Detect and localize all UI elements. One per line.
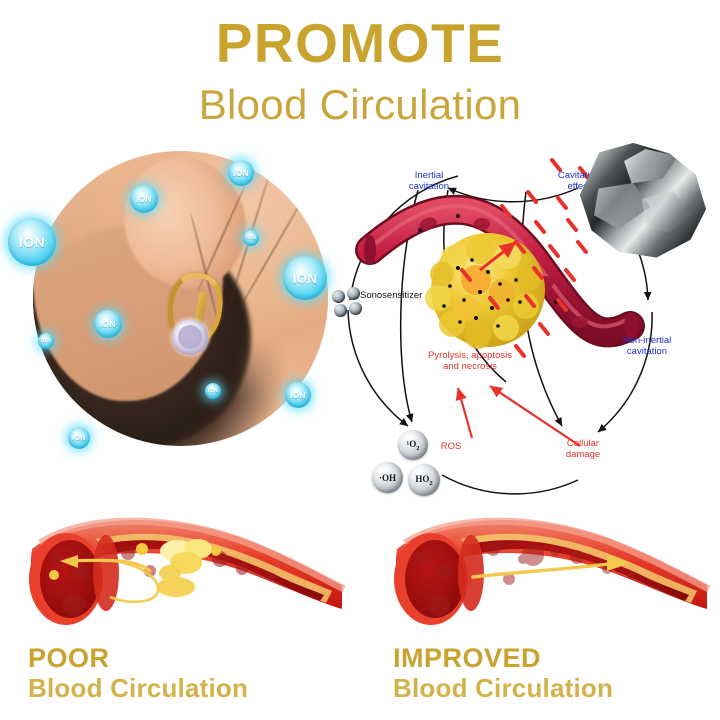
ion-bubble: ION xyxy=(205,383,221,399)
ear-photo-circle xyxy=(33,151,328,446)
caption-poor: POOR Blood Circulation xyxy=(28,643,248,703)
ion-bubble: ION xyxy=(285,382,311,408)
ion-bubble: ION xyxy=(8,218,56,266)
molecule-singlet-oxygen: ¹O2 xyxy=(398,430,428,460)
label-non-inertial-cavitation: Non-inertial cavitation xyxy=(608,335,686,357)
caption-poor-subtitle: Blood Circulation xyxy=(28,673,248,703)
plaque-deposits xyxy=(157,539,212,597)
page-subtitle: Blood Circulation xyxy=(0,84,720,126)
caption-improved-subtitle: Blood Circulation xyxy=(393,673,613,703)
sonosensitizer-particle xyxy=(347,287,360,300)
ion-bubble: ION xyxy=(94,310,122,338)
label-sonosensitizer: Sonosensitizer xyxy=(360,290,446,301)
earring-gemstone xyxy=(172,319,208,355)
ion-bubble: ION xyxy=(130,185,158,213)
label-inertial-cavitation: Inertial cavitation xyxy=(392,170,466,192)
ion-bubble: ION xyxy=(68,427,90,449)
page-title: PROMOTE xyxy=(0,16,720,71)
improved-circulation-vessel xyxy=(375,505,720,633)
molecule-hydroperoxyl: HO2 xyxy=(408,464,440,496)
sonosensitizer-particle xyxy=(349,302,362,315)
molecule-hydroxyl-radical: ·OH xyxy=(372,462,403,493)
ion-bubble: ION xyxy=(228,160,254,186)
header-block: PROMOTE Blood Circulation xyxy=(0,0,720,128)
caption-improved: IMPROVED Blood Circulation xyxy=(393,643,613,703)
label-ros: ROS xyxy=(434,441,468,452)
caption-poor-title: POOR xyxy=(28,643,248,673)
sonosensitizer-particle xyxy=(334,304,347,317)
ion-bubble: ION xyxy=(243,230,259,246)
promo-image-canvas: PROMOTE Blood Circulation IONIONIONIONIO… xyxy=(0,0,720,720)
poor-circulation-vessel xyxy=(10,505,360,633)
label-pyrolysis-apoptosis-necrosis: Pyrolysis, apoptosis and necrosis xyxy=(400,350,540,372)
ion-bubble: ION xyxy=(38,333,54,349)
ion-bubble: ION xyxy=(283,256,327,300)
sonosensitizer-particle xyxy=(332,290,345,303)
label-cellular-damage: Cellular damage xyxy=(548,438,618,460)
caption-improved-title: IMPROVED xyxy=(393,643,613,673)
